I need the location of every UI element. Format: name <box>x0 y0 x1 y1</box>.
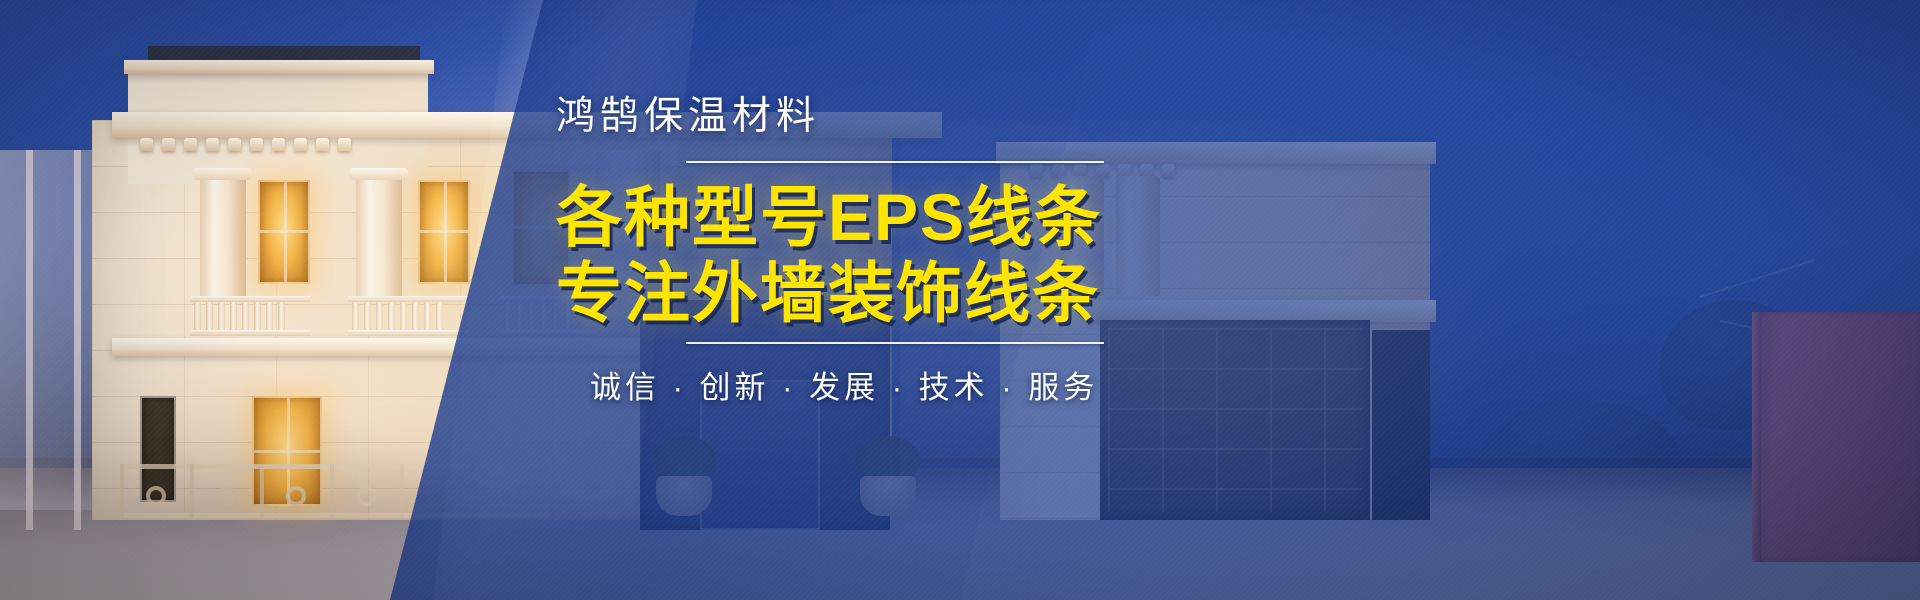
baluster <box>376 296 383 336</box>
column-capital <box>350 168 408 180</box>
railing-ring <box>286 486 306 506</box>
left-pole <box>26 150 33 530</box>
window-mullion <box>254 450 320 453</box>
window-mullion <box>260 230 308 233</box>
baluster <box>364 296 371 336</box>
window-lit <box>258 180 310 284</box>
divider-rule-lower <box>686 342 1104 344</box>
rule-lower-wrap <box>556 342 1536 344</box>
baluster <box>400 296 407 336</box>
upper-cornice <box>124 60 434 74</box>
window-lit <box>418 180 470 284</box>
villa-column <box>200 176 246 300</box>
railing-ring <box>496 486 516 506</box>
baluster <box>266 296 273 336</box>
brand-name: 鸿鹄保温材料 <box>556 96 1536 139</box>
railing-post <box>190 464 194 518</box>
dentil <box>162 138 175 151</box>
window-mullion <box>420 230 468 233</box>
dentil <box>184 138 197 151</box>
baluster <box>516 296 523 336</box>
divider-rule-upper <box>686 161 1104 163</box>
red-wall <box>1752 312 1920 562</box>
villa-column <box>356 176 402 300</box>
railing-post <box>120 464 124 518</box>
dentil <box>272 138 285 151</box>
dentil <box>228 138 241 151</box>
dentil-row <box>140 138 351 151</box>
dentil <box>250 138 263 151</box>
dentil <box>294 138 307 151</box>
tagline-wrap: 诚信 · 创新 · 发展 · 技术 · 服务 <box>556 362 1536 407</box>
headline-line-1: 各种型号EPS线条 <box>556 179 1536 256</box>
baluster <box>206 296 213 336</box>
baluster <box>412 296 419 336</box>
baluster <box>436 296 443 336</box>
railing-post <box>470 464 474 518</box>
railing-top-rail <box>120 464 550 469</box>
planter-pot <box>656 476 712 516</box>
dentil <box>338 138 351 151</box>
tagline: 诚信 · 创新 · 发展 · 技术 · 服务 <box>590 362 1536 407</box>
left-pole <box>74 150 81 530</box>
railing-post <box>330 464 334 518</box>
baluster <box>254 296 261 336</box>
balcony-balustrade <box>348 296 468 336</box>
dentil <box>206 138 219 151</box>
baluster <box>218 296 225 336</box>
red-wall-edge <box>1752 312 1761 562</box>
baluster <box>504 296 511 336</box>
column-capital <box>194 168 252 180</box>
headline-line-2: 专注外墙装饰线条 <box>556 255 1536 332</box>
dentil <box>316 138 329 151</box>
balcony-balustrade <box>190 296 310 336</box>
baluster <box>528 296 535 336</box>
dentil <box>140 138 153 151</box>
baluster <box>424 296 431 336</box>
railing-post <box>400 464 404 518</box>
baluster <box>194 296 201 336</box>
railing-bottom-rail <box>120 513 550 518</box>
baluster <box>242 296 249 336</box>
baluster <box>230 296 237 336</box>
railing-ring <box>146 486 166 506</box>
baluster <box>352 296 359 336</box>
railing-post <box>544 464 548 518</box>
baluster <box>540 296 547 336</box>
railing-ring <box>426 486 446 506</box>
front-railing <box>120 464 550 530</box>
rule-upper-wrap <box>556 161 1536 163</box>
hero-banner: 鸿鹄保温材料 各种型号EPS线条 专注外墙装饰线条 诚信 · 创新 · 发展 ·… <box>0 0 1920 600</box>
left-structure <box>0 150 96 510</box>
railing-ring <box>356 486 376 506</box>
railing-post <box>260 464 264 518</box>
railing-ring <box>216 486 236 506</box>
baluster <box>388 296 395 336</box>
planter-pot <box>860 476 916 516</box>
baluster <box>278 296 285 336</box>
banner-copy: 鸿鹄保温材料 各种型号EPS线条 专注外墙装饰线条 诚信 · 创新 · 发展 ·… <box>556 96 1536 407</box>
